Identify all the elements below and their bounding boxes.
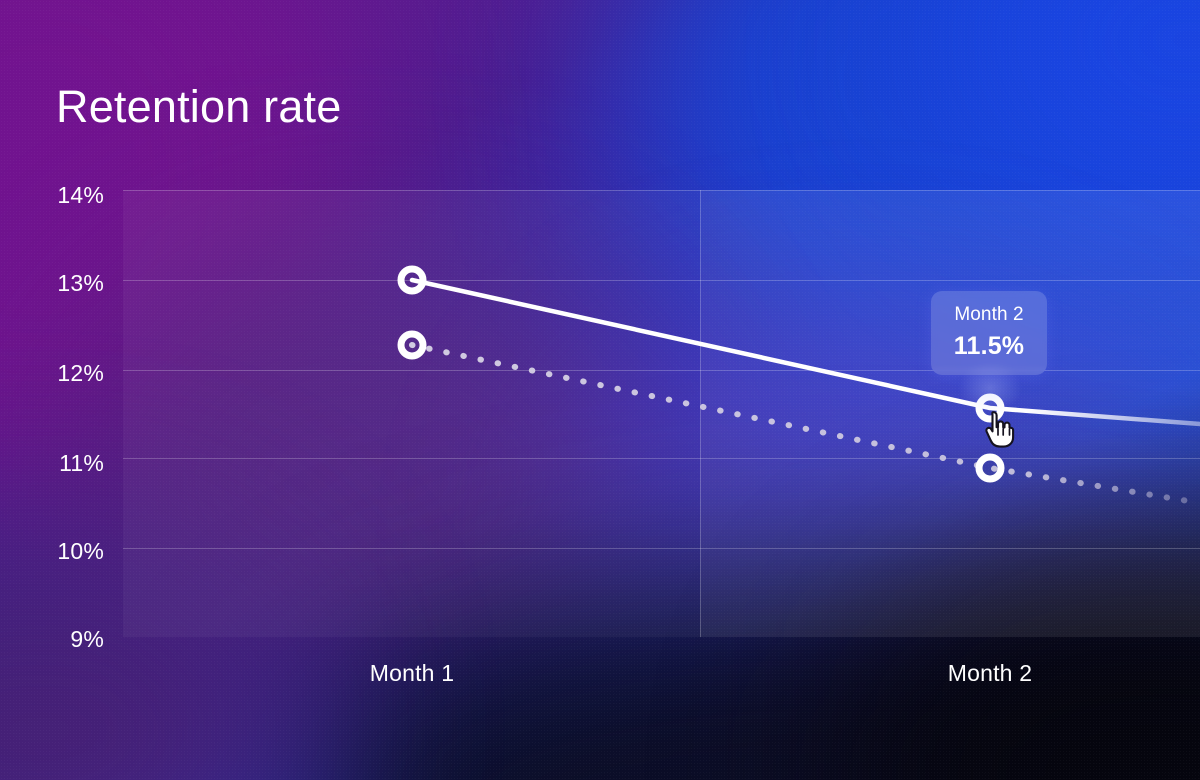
page-title: Retention rate (56, 84, 341, 129)
gridline-month-2 (700, 190, 701, 637)
chart-tooltip: Month 2 11.5% (931, 291, 1047, 375)
tooltip-category-label: Month 2 (945, 303, 1033, 327)
gridline-11 (123, 458, 1200, 459)
y-axis-tick-14: 14% (14, 182, 104, 209)
plot-area (123, 190, 1200, 637)
y-axis-tick-10: 10% (14, 538, 104, 565)
y-axis-tick-11: 11% (14, 450, 104, 477)
y-axis-tick-9: 9% (14, 626, 104, 653)
tooltip-value: 11.5% (945, 331, 1033, 361)
retention-rate-chart-card: Retention rate 14% 13% 12% 11% 10% 9% Mo… (0, 0, 1200, 780)
x-axis-tick-month-1: Month 1 (302, 660, 522, 687)
y-axis-tick-12: 12% (14, 360, 104, 387)
y-axis-tick-13: 13% (14, 270, 104, 297)
gridline-13 (123, 280, 1200, 281)
gridline-10 (123, 548, 1200, 549)
gridline-14 (123, 190, 1200, 191)
x-axis-tick-month-2: Month 2 (880, 660, 1100, 687)
hover-highlight-band (700, 190, 1200, 637)
